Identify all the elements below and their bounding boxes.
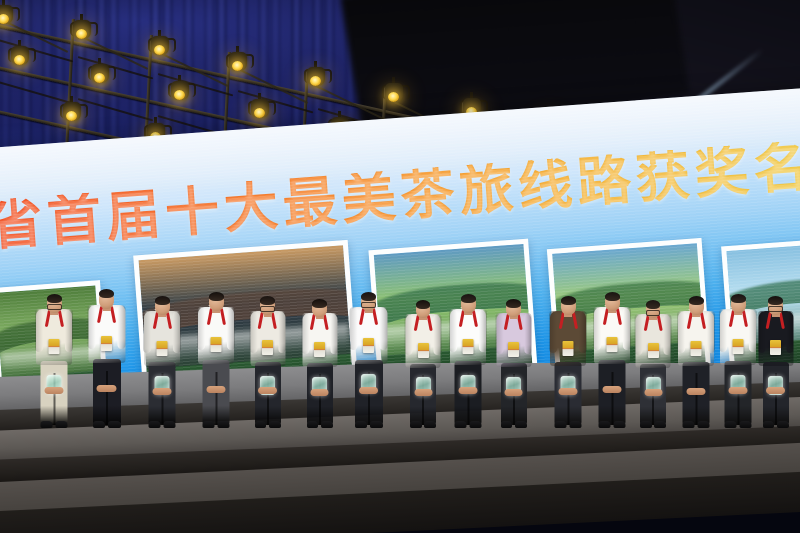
hands: [505, 389, 523, 396]
shoe-right: [469, 421, 481, 428]
award-recipient-5: [248, 276, 287, 425]
hands: [459, 387, 478, 394]
torso-shirt: [406, 314, 441, 368]
id-badge: [262, 340, 273, 355]
power-cable: [78, 98, 154, 121]
hands: [603, 386, 622, 393]
shoe-right: [269, 421, 281, 428]
eyeglasses: [47, 304, 62, 310]
award-recipient-1: [34, 273, 74, 425]
shoe-right: [424, 421, 436, 428]
hands: [258, 387, 277, 394]
eyeglasses: [646, 310, 660, 316]
id-badge: [563, 341, 574, 356]
shoe-left: [683, 421, 695, 428]
torso-shirt: [496, 313, 531, 367]
award-recipient-2: [86, 268, 127, 425]
head-group: [689, 297, 704, 315]
stage-spotlight-1-3: [150, 36, 170, 62]
shoe-right: [515, 421, 527, 428]
head-group: [506, 300, 521, 317]
id-badge: [418, 343, 429, 358]
head-group: [768, 297, 783, 315]
shoe-left: [455, 421, 467, 428]
torso-shirt: [144, 311, 180, 366]
spotlight-bulb: [154, 45, 165, 55]
leg-split: [611, 372, 613, 425]
stage-spotlight-2-4: [250, 99, 270, 125]
award-recipient-16: [756, 276, 795, 425]
torso-shirt: [450, 309, 486, 365]
spotlight-bulb: [94, 73, 105, 83]
hands: [45, 387, 64, 394]
id-badge: [463, 339, 474, 354]
ceremony-photo: 徽省首届十大最美茶旅线路获奖名 …线…协…线…路名称: 千载…荐单位: 池州………: [0, 0, 800, 533]
award-recipient-9: [448, 273, 488, 425]
hair: [47, 294, 62, 303]
id-badge: [363, 338, 374, 353]
head-group: [260, 297, 275, 315]
stage-spotlight-3-1: [62, 102, 82, 128]
leg-split: [215, 372, 217, 425]
shoe-left: [355, 421, 368, 428]
hands: [559, 388, 578, 395]
hair: [561, 296, 576, 305]
shoe-right: [217, 421, 229, 428]
shoe-right: [321, 421, 333, 428]
hair: [312, 299, 327, 308]
hair: [209, 292, 224, 301]
torso-shirt: [720, 309, 756, 365]
award-recipient-14: [676, 275, 716, 425]
torso-shirt: [250, 311, 285, 366]
shoe-right: [569, 421, 581, 428]
head-group: [361, 293, 376, 311]
award-recipient-10: [494, 278, 533, 425]
id-badge: [648, 343, 659, 358]
hair: [605, 292, 620, 301]
hands: [311, 389, 329, 396]
shoe-left: [410, 421, 422, 428]
hands: [359, 387, 378, 394]
torso-shirt: [88, 305, 125, 363]
shoe-left: [725, 421, 737, 428]
head-group: [47, 295, 62, 313]
hair: [768, 296, 783, 305]
award-recipient-11: [548, 275, 588, 425]
torso-shirt: [678, 311, 714, 366]
stage-spotlight-1-2: [72, 20, 92, 46]
shoe-left: [640, 421, 652, 428]
spotlight-bulb: [254, 108, 265, 118]
id-badge: [508, 342, 519, 357]
shoe-right: [697, 421, 709, 428]
id-badge: [101, 336, 112, 351]
hair: [260, 296, 275, 305]
award-recipient-8: [404, 279, 442, 425]
id-badge: [770, 340, 781, 355]
id-badge: [49, 339, 60, 354]
torso-shirt: [636, 314, 671, 368]
torso-shirt: [302, 313, 337, 367]
award-recipient-4: [196, 271, 236, 425]
leg-split: [106, 371, 108, 425]
stage-spotlight-2-1: [10, 46, 30, 72]
stage-spotlight-2-3: [170, 81, 190, 107]
eyeglasses: [260, 306, 275, 312]
hands: [729, 387, 748, 394]
hair: [416, 300, 430, 309]
shoe-right: [613, 421, 625, 428]
torso-shirt: [198, 307, 234, 364]
id-badge: [607, 337, 618, 352]
shoe-left: [555, 421, 567, 428]
id-badge: [211, 337, 222, 352]
spotlight-bulb: [66, 111, 77, 121]
head-group: [209, 293, 224, 311]
head-group: [731, 295, 746, 313]
legs: [93, 359, 121, 425]
head-group: [605, 293, 620, 311]
shoe-right: [108, 421, 121, 428]
id-badge: [691, 341, 702, 356]
shoe-left: [93, 421, 106, 428]
shoe-right: [654, 421, 666, 428]
shoe-right: [163, 421, 175, 428]
hands: [97, 385, 117, 392]
shoe-left: [599, 421, 611, 428]
hands: [207, 386, 226, 393]
hair: [689, 296, 704, 305]
stage-spotlight-1-5: [306, 67, 326, 93]
torso-shirt: [550, 311, 586, 366]
id-badge: [314, 342, 325, 357]
torso-shirt: [350, 307, 387, 364]
shoe-left: [41, 421, 53, 428]
leg-split: [695, 373, 697, 425]
head-group: [646, 301, 660, 318]
shoe-right: [370, 421, 383, 428]
hair: [731, 294, 746, 303]
head-group: [155, 297, 170, 315]
stage-spotlight-1-6: [384, 83, 404, 109]
head-group: [99, 290, 114, 309]
hair: [461, 294, 476, 303]
hands: [644, 389, 662, 396]
eyeglasses: [361, 302, 376, 308]
head-group: [416, 301, 430, 318]
head-group: [312, 300, 327, 317]
hair: [99, 289, 114, 298]
shoe-left: [501, 421, 513, 428]
hair: [646, 300, 660, 309]
award-recipients-row: [0, 265, 800, 425]
spotlight-bulb: [388, 92, 399, 102]
torso-shirt: [758, 311, 793, 366]
hair: [155, 296, 170, 305]
head-group: [461, 295, 476, 313]
award-recipient-3: [142, 275, 182, 425]
shoe-right: [739, 421, 751, 428]
stage-spotlight-1-1: [0, 5, 14, 31]
shoe-left: [149, 421, 161, 428]
id-badge: [733, 339, 744, 354]
hands: [153, 388, 172, 395]
shoe-left: [255, 421, 267, 428]
spotlight-bulb: [232, 61, 243, 71]
stage-spotlight-2-2: [90, 64, 110, 90]
id-badge: [157, 341, 168, 356]
hands: [414, 389, 432, 396]
eyeglasses: [768, 306, 783, 312]
award-recipient-7: [348, 270, 389, 425]
hands: [766, 387, 785, 394]
hair: [506, 299, 521, 308]
shoe-right: [55, 421, 67, 428]
shoe-left: [203, 421, 215, 428]
stage-spotlight-1-4: [228, 52, 248, 78]
award-recipient-12: [592, 271, 632, 425]
award-recipient-6: [300, 278, 339, 425]
shoe-right: [777, 421, 789, 428]
award-recipient-13: [634, 279, 672, 425]
shoe-left: [763, 421, 775, 428]
award-recipient-15: [718, 273, 758, 425]
torso-shirt: [36, 309, 72, 365]
hair: [361, 292, 376, 301]
torso-shirt: [594, 307, 630, 364]
shoe-left: [307, 421, 319, 428]
hands: [687, 388, 706, 395]
head-group: [561, 297, 576, 315]
